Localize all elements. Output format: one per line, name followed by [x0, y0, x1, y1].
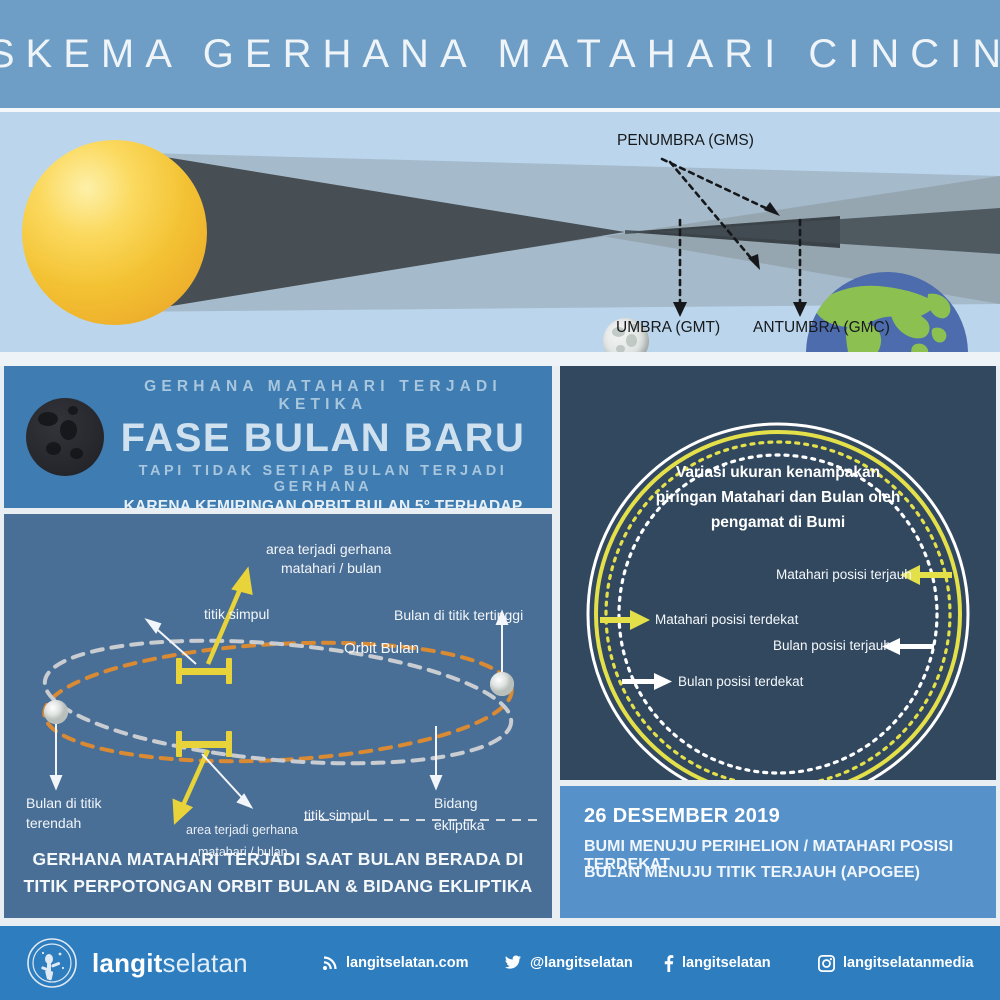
- new-moon-icon: [26, 398, 104, 476]
- page-title: SKEMA GERHANA MATAHARI CINCIN: [0, 32, 1000, 77]
- footer-link-twitter-label: @langitselatan: [530, 955, 633, 971]
- footer-bar: langitselatan langitselatan.com @langits…: [0, 926, 1000, 1000]
- rings-title: Variasi ukuran kenampakan piringan Matah…: [610, 460, 946, 535]
- ring-label-moon-far: Bulan posisi terjauh: [773, 638, 891, 653]
- orbit-label-node-bottom: titik simpul: [304, 806, 369, 825]
- orbit-label-eclipse-area-top-1: area terjadi gerhana: [266, 540, 391, 559]
- twitter-icon: [504, 955, 522, 971]
- orbit-caption-line-2: TITIK PERPOTONGAN ORBIT BULAN & BIDANG E…: [4, 873, 552, 900]
- label-umbra: UMBRA (GMT): [616, 319, 720, 337]
- new-moon-panel: GERHANA MATAHARI TERJADI KETIKA FASE BUL…: [4, 366, 552, 508]
- date-line-2: BULAN MENUJU TITIK TERJAUH (APOGEE): [584, 864, 920, 882]
- rings-title-line-2: piringan Matahari dan Bulan oleh: [610, 485, 946, 510]
- date-title: 26 DESEMBER 2019: [584, 805, 780, 828]
- infographic-page: SKEMA GERHANA MATAHARI CINCIN: [0, 0, 1000, 1000]
- facebook-icon: [663, 955, 674, 972]
- footer-link-facebook-label: langitselatan: [682, 955, 771, 971]
- orbit-label-ecliptic-plane-1: Bidang: [434, 794, 478, 813]
- rings-title-line-3: pengamat di Bumi: [610, 510, 946, 535]
- label-penumbra: PENUMBRA (GMS): [617, 132, 754, 150]
- footer-link-facebook[interactable]: langitselatan: [663, 955, 771, 972]
- new-moon-line-3: TAPI TIDAK SETIAP BULAN TERJADI GERHANA: [104, 463, 542, 495]
- orbit-label-eclipse-area-top-2: matahari / bulan: [281, 559, 381, 578]
- orbit-label-moon-highest: Bulan di titik tertinggi: [394, 606, 523, 625]
- ring-label-moon-near: Bulan posisi terdekat: [678, 674, 803, 689]
- date-info-panel: 26 DESEMBER 2019 BUMI MENUJU PERIHELION …: [560, 786, 996, 918]
- orbit-label-moon-lowest-2: terendah: [26, 814, 81, 833]
- moon-orbit-ellipse: [40, 624, 516, 780]
- orbit-caption-line-1: GERHANA MATAHARI TERJADI SAAT BULAN BERA…: [4, 846, 552, 873]
- ring-label-sun-far: Matahari posisi terjauh: [776, 567, 912, 582]
- label-antumbra: ANTUMBRA (GMC): [753, 319, 890, 337]
- footer-link-website-label: langitselatan.com: [346, 955, 468, 971]
- orbit-label-node-top: titik simpul: [204, 605, 269, 624]
- footer-link-website[interactable]: langitselatan.com: [322, 955, 468, 971]
- ring-label-sun-near: Matahari posisi terdekat: [655, 612, 798, 627]
- header-banner: SKEMA GERHANA MATAHARI CINCIN: [0, 0, 1000, 108]
- pointer-arrows: [51, 612, 507, 807]
- apparent-size-panel: Variasi ukuran kenampakan piringan Matah…: [560, 366, 996, 780]
- footer-link-instagram[interactable]: langitselatanmedia: [818, 955, 974, 972]
- scene-divider: [0, 352, 1000, 366]
- brand-wordmark: langitselatan: [92, 948, 248, 979]
- new-moon-line-1: GERHANA MATAHARI TERJADI KETIKA: [104, 378, 542, 414]
- new-moon-headline: FASE BULAN BARU: [104, 415, 542, 461]
- new-moon-text-block: GERHANA MATAHARI TERJADI KETIKA FASE BUL…: [104, 378, 542, 534]
- instagram-icon: [818, 955, 835, 972]
- footer-link-instagram-label: langitselatanmedia: [843, 955, 974, 971]
- ecliptic-ellipse: [41, 632, 514, 772]
- moon-orbit-panel: area terjadi gerhana matahari / bulan ti…: [4, 514, 552, 918]
- eclipse-geometry-scene: PENUMBRA (GMS) UMBRA (GMT) ANTUMBRA (GMC…: [0, 112, 1000, 352]
- brand-wordmark-light: selatan: [163, 948, 248, 978]
- orbit-label-moon-orbit: Orbit Bulan: [344, 639, 419, 658]
- rss-icon: [322, 955, 338, 971]
- orbit-label-moon-lowest-1: Bulan di titik: [26, 794, 101, 813]
- footer-link-twitter[interactable]: @langitselatan: [504, 955, 633, 971]
- node-marker-top: [176, 658, 232, 684]
- annotation-arrows: [0, 112, 1000, 352]
- orbit-caption: GERHANA MATAHARI TERJADI SAAT BULAN BERA…: [4, 846, 552, 900]
- orbit-label-eclipse-area-bottom-1: area terjadi gerhana: [186, 821, 298, 840]
- brand-block: langitselatan: [26, 937, 248, 989]
- orbit-label-ecliptic-plane-2: ekliptika: [434, 816, 485, 835]
- brand-wordmark-bold: langit: [92, 948, 163, 978]
- rings-title-line-1: Variasi ukuran kenampakan: [610, 460, 946, 485]
- langitselatan-logo-icon: [26, 937, 78, 989]
